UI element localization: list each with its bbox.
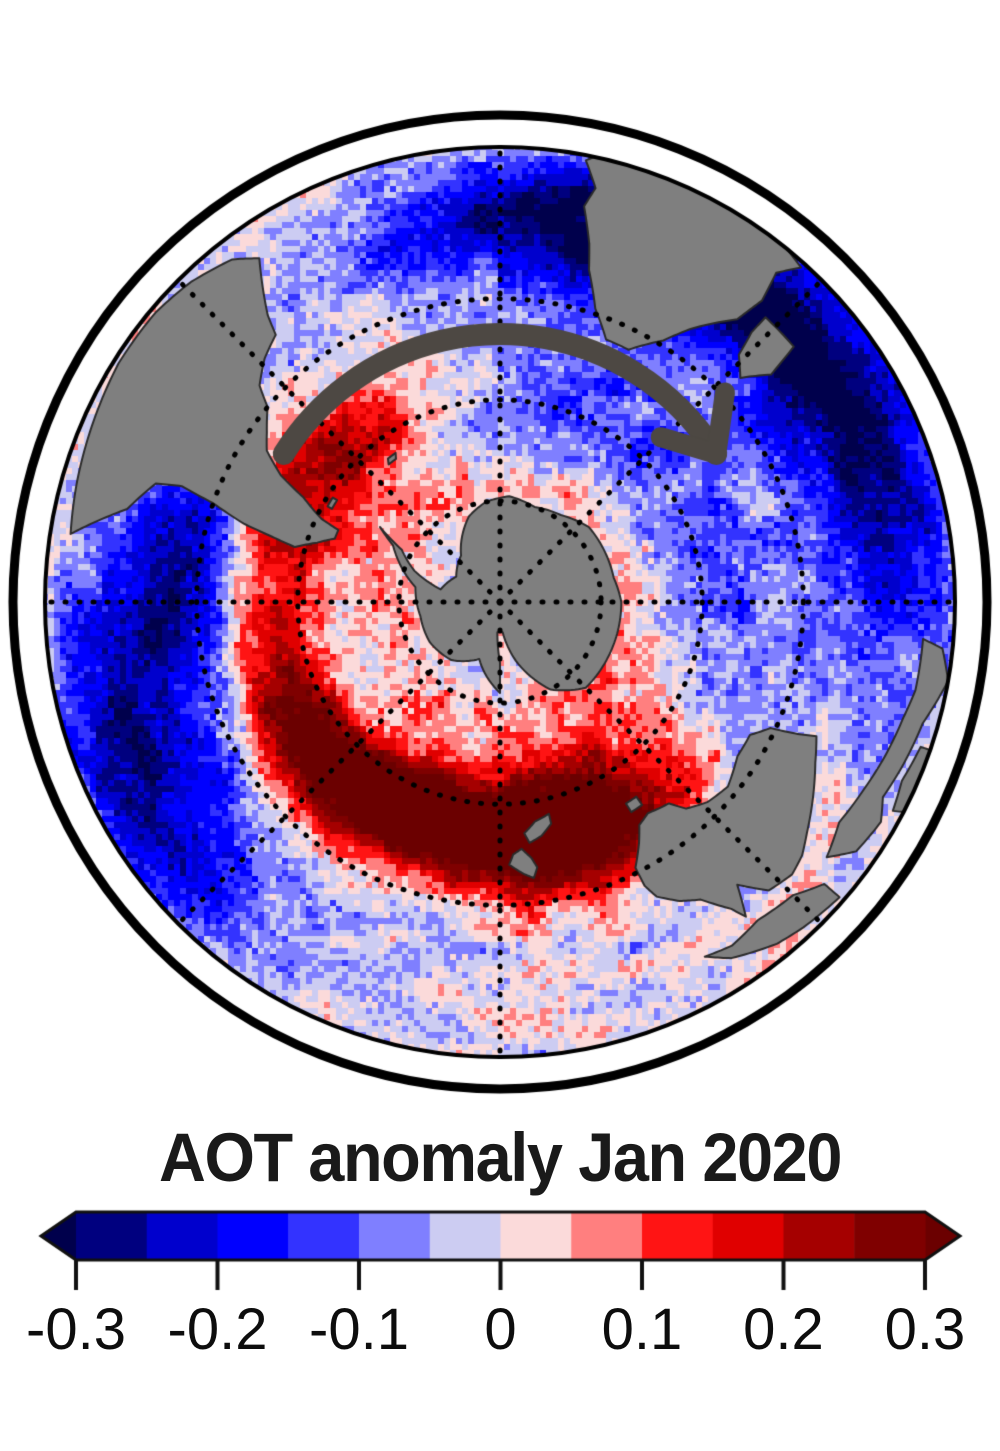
- colorbar-tick-label: -0.1: [309, 1298, 409, 1362]
- polar-map-panel: [0, 0, 1000, 1105]
- aot-anomaly-polar-heatmap: [0, 0, 1000, 1105]
- colorbar-tick-label: 0.3: [885, 1298, 966, 1362]
- colorbar-tick-labels: -0.3-0.2-0.100.10.20.3: [0, 1298, 1000, 1378]
- colorbar-tick-label: 0.1: [602, 1298, 683, 1362]
- colorbar-tick-label: 0.2: [743, 1298, 824, 1362]
- colorbar-gradient: [0, 1208, 1000, 1298]
- colorbar-tick-label: -0.2: [168, 1298, 268, 1362]
- colorbar-tick-label: -0.3: [26, 1298, 126, 1362]
- chart-title: AOT anomaly Jan 2020: [30, 1122, 970, 1194]
- colorbar-tick-label: 0: [484, 1298, 516, 1362]
- colorbar: [0, 1208, 1000, 1298]
